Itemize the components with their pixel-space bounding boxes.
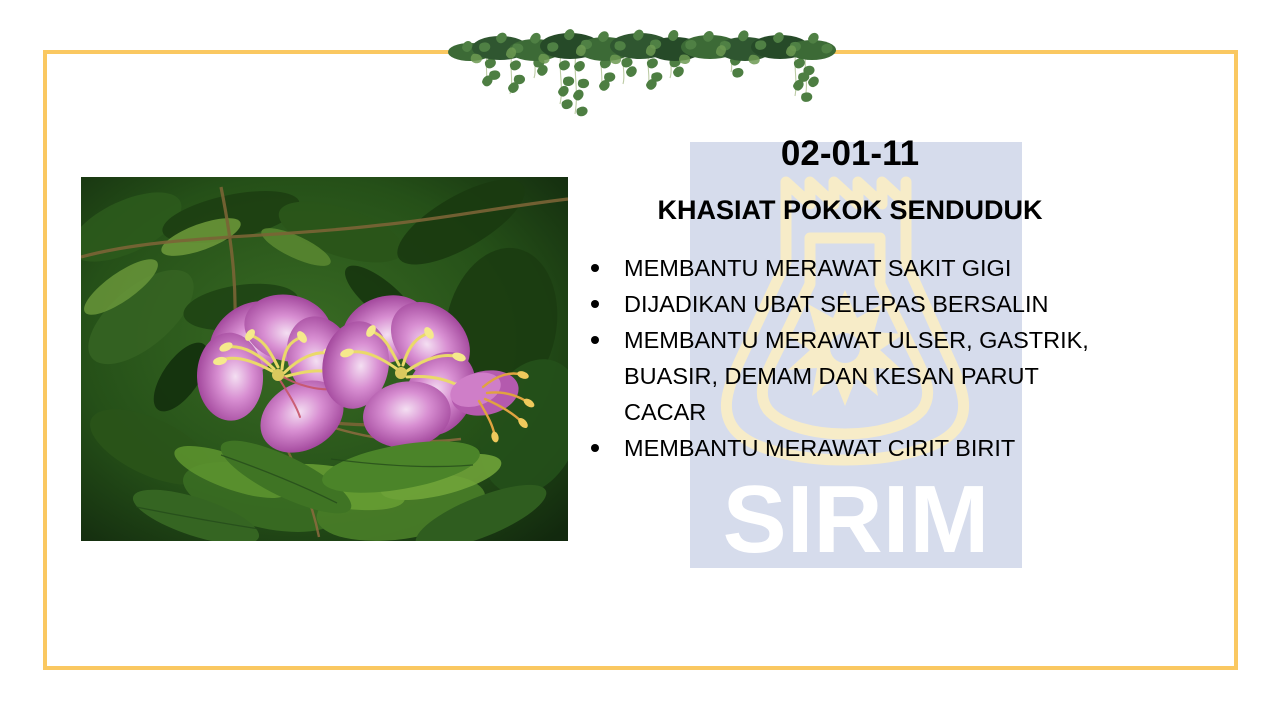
slide-canvas: SIRIM 02-01-11 KHASIAT POKOK SENDUDUK ME… bbox=[0, 0, 1280, 720]
bullet-dot-icon bbox=[591, 444, 599, 452]
sirim-wordmark: SIRIM bbox=[723, 466, 990, 568]
slide-text-content: 02-01-11 KHASIAT POKOK SENDUDUK MEMBANTU… bbox=[580, 132, 1120, 466]
slide-title: KHASIAT POKOK SENDUDUK bbox=[580, 190, 1120, 230]
list-item-label: MEMBANTU MERAWAT SAKIT GIGI bbox=[624, 255, 1011, 281]
slide-code: 02-01-11 bbox=[580, 132, 1120, 176]
list-item: MEMBANTU MERAWAT CIRIT BIRIT bbox=[580, 430, 1120, 466]
ivy-garland-decoration bbox=[440, 8, 840, 133]
bullet-dot-icon bbox=[591, 264, 599, 272]
list-item-label: MEMBANTU MERAWAT ULSER, GASTRIK, BUASIR,… bbox=[624, 327, 1089, 425]
bullet-dot-icon bbox=[591, 300, 599, 308]
list-item: MEMBANTU MERAWAT SAKIT GIGI bbox=[580, 250, 1120, 286]
list-item: DIJADIKAN UBAT SELEPAS BERSALIN bbox=[580, 286, 1120, 322]
senduduk-flower-photo bbox=[81, 177, 568, 541]
list-item-label: DIJADIKAN UBAT SELEPAS BERSALIN bbox=[624, 291, 1048, 317]
list-item-label: MEMBANTU MERAWAT CIRIT BIRIT bbox=[624, 435, 1015, 461]
bullet-dot-icon bbox=[591, 336, 599, 344]
benefits-list: MEMBANTU MERAWAT SAKIT GIGI DIJADIKAN UB… bbox=[580, 250, 1120, 466]
list-item: MEMBANTU MERAWAT ULSER, GASTRIK, BUASIR,… bbox=[580, 322, 1120, 430]
